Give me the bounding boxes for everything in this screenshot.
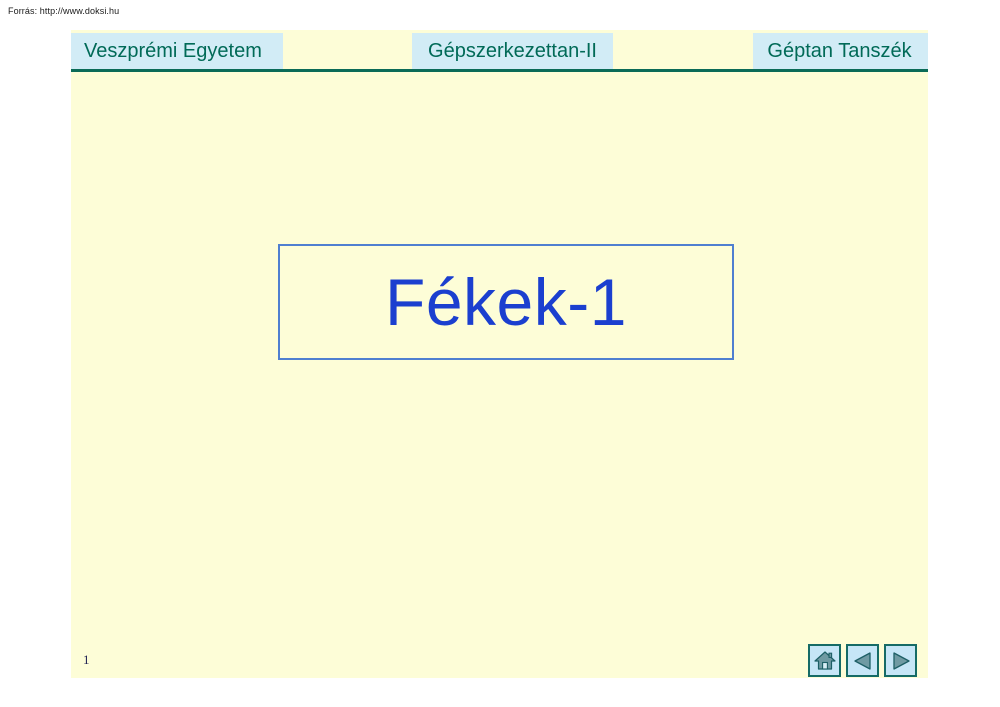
slide-header-band: Veszprémi Egyetem Gépszerkezettan-II Gép… [71,33,928,69]
triangle-right-icon [890,651,912,671]
triangle-left-icon [852,651,874,671]
source-watermark: Forrás: http://www.doksi.hu [8,6,119,16]
slide-canvas: Veszprémi Egyetem Gépszerkezettan-II Gép… [71,30,928,678]
previous-slide-button[interactable] [846,644,879,677]
page-title: Fékek-1 [385,269,627,335]
home-button[interactable] [808,644,841,677]
slide-page-number: 1 [83,652,90,668]
home-icon [814,650,836,671]
header-department-label: Géptan Tanszék [753,33,928,69]
header-course-label: Gépszerkezettan-II [412,33,613,69]
next-slide-button[interactable] [884,644,917,677]
header-university-label: Veszprémi Egyetem [71,33,283,69]
slide-body: Fékek-1 [71,72,928,678]
navigation-bar [808,644,917,677]
title-box: Fékek-1 [278,244,734,360]
